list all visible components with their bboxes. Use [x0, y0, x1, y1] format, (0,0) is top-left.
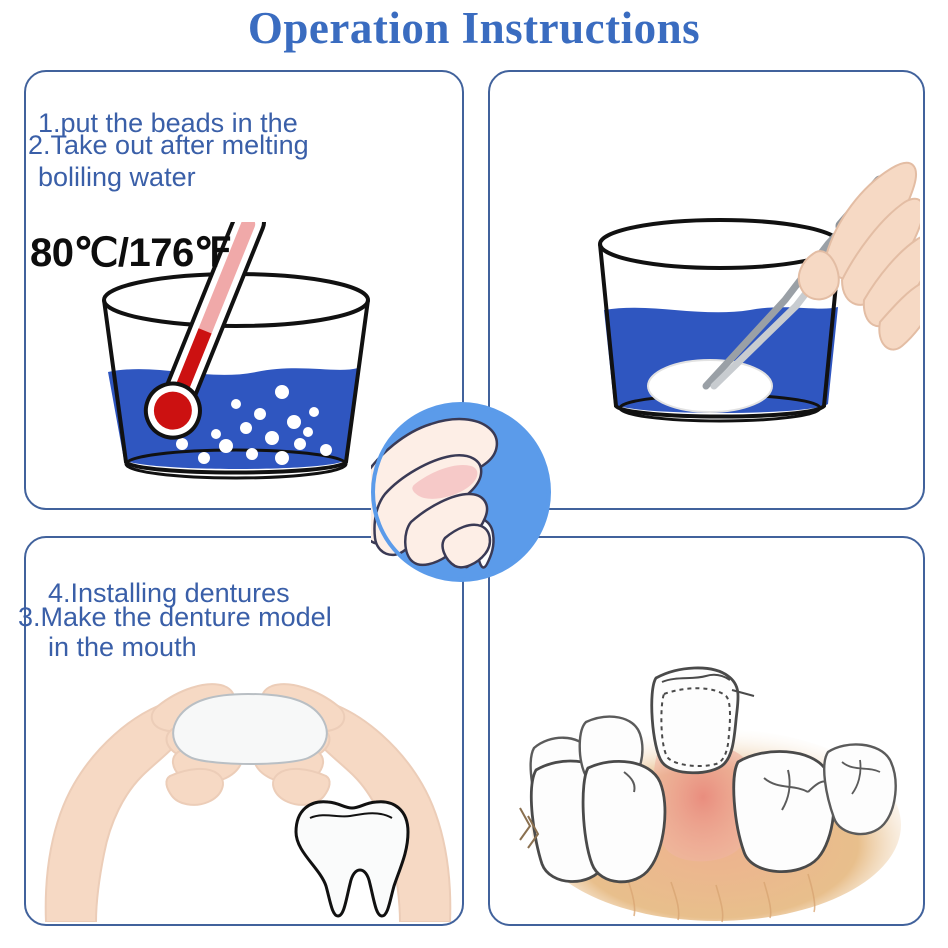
step-4-caption-line2: in the mouth: [48, 632, 197, 662]
denture-molding-illustration: [38, 672, 458, 922]
temperature-label: 80℃/176℉: [30, 230, 231, 276]
page-title: Operation Instructions: [0, 2, 948, 54]
step-4-caption-line1: 4.Installing dentures: [48, 578, 290, 608]
center-badge: [371, 402, 551, 582]
step-2-caption: 2.Take out after melting: [28, 118, 309, 172]
tweezers-illustration: [580, 160, 920, 480]
infographic-root: Operation Instructions 1.put the beads i…: [0, 0, 948, 948]
dental-arch-illustration: [516, 660, 926, 930]
step-4-caption: 4.Installing dentures in the mouth: [48, 566, 290, 674]
